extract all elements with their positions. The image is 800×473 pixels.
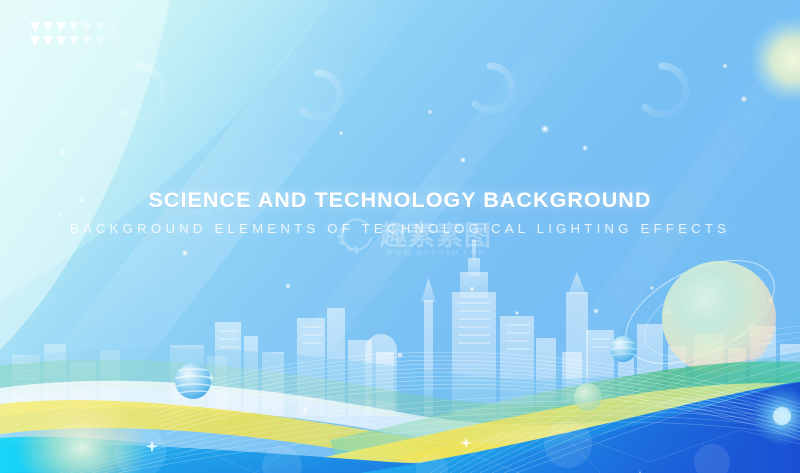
sphere-blue-mid xyxy=(609,336,640,362)
wave-cyan-band xyxy=(0,437,190,473)
mesh-upper xyxy=(150,352,800,440)
polygon-net xyxy=(120,420,800,473)
poster-canvas: SCIENCE AND TECHNOLOGY BACKGROUND BACKGR… xyxy=(0,0,800,473)
wave-deep-blue xyxy=(430,382,800,473)
triangle-down-icon xyxy=(30,22,40,32)
triangle-down-icon xyxy=(82,36,92,46)
triangle-down-icon xyxy=(56,36,66,46)
triangle-down-icon xyxy=(43,22,53,32)
mesh-left-arc xyxy=(0,392,380,436)
laurel-circle-logo xyxy=(334,215,376,257)
wave-green-left xyxy=(0,360,800,432)
planet-large-right xyxy=(662,261,776,375)
wave-green-right xyxy=(330,361,800,470)
page-title: SCIENCE AND TECHNOLOGY BACKGROUND xyxy=(0,190,800,212)
triangle-row xyxy=(30,36,118,46)
triangle-down-icon xyxy=(69,36,79,46)
watermark-text: 趣素素图 xyxy=(380,223,492,250)
wave-yellow-right xyxy=(300,383,800,473)
ring-top-left xyxy=(120,66,164,118)
bokeh-group xyxy=(114,420,730,473)
sphere-blue-left xyxy=(173,363,217,399)
triangle-down-icon xyxy=(56,22,66,32)
ring-top-right xyxy=(645,66,686,114)
glow-orb-bottomleft xyxy=(16,396,148,473)
triangle-down-icon xyxy=(43,36,53,46)
wave-blue-right-rise xyxy=(360,382,800,473)
triangle-down-icon xyxy=(82,22,92,32)
triangle-down-icon xyxy=(108,22,118,32)
triangle-grid xyxy=(30,22,118,46)
mesh-bottom-sweep xyxy=(60,396,800,473)
sphere-green-mid xyxy=(574,383,602,411)
sparkle-group xyxy=(146,373,645,473)
glow-orb-bottomright-core xyxy=(773,407,791,425)
triangle-down-icon xyxy=(108,36,118,46)
stock-photo-watermark: 趣素素图 WWW.QUSUSU.COM xyxy=(334,212,534,260)
triangle-down-icon xyxy=(30,36,40,46)
triangle-row xyxy=(30,22,118,32)
watermark-tagline: WWW.QUSUSU.COM xyxy=(386,250,486,257)
ring-top-mid xyxy=(303,73,340,117)
wave-yellow-left xyxy=(0,400,800,470)
triangle-down-icon xyxy=(95,36,105,46)
orbit-ellipse-right xyxy=(610,239,791,385)
triangle-down-icon xyxy=(95,22,105,32)
ring-top-center xyxy=(475,66,512,110)
wave-cyan-upper xyxy=(0,348,800,415)
glow-orb-bottomright xyxy=(752,386,800,446)
wave-white-upper xyxy=(0,381,800,450)
wave-blue-base xyxy=(0,406,800,473)
triangle-down-icon xyxy=(69,22,79,32)
glow-orb-topright xyxy=(749,16,800,104)
mesh-right-fan xyxy=(430,326,800,473)
